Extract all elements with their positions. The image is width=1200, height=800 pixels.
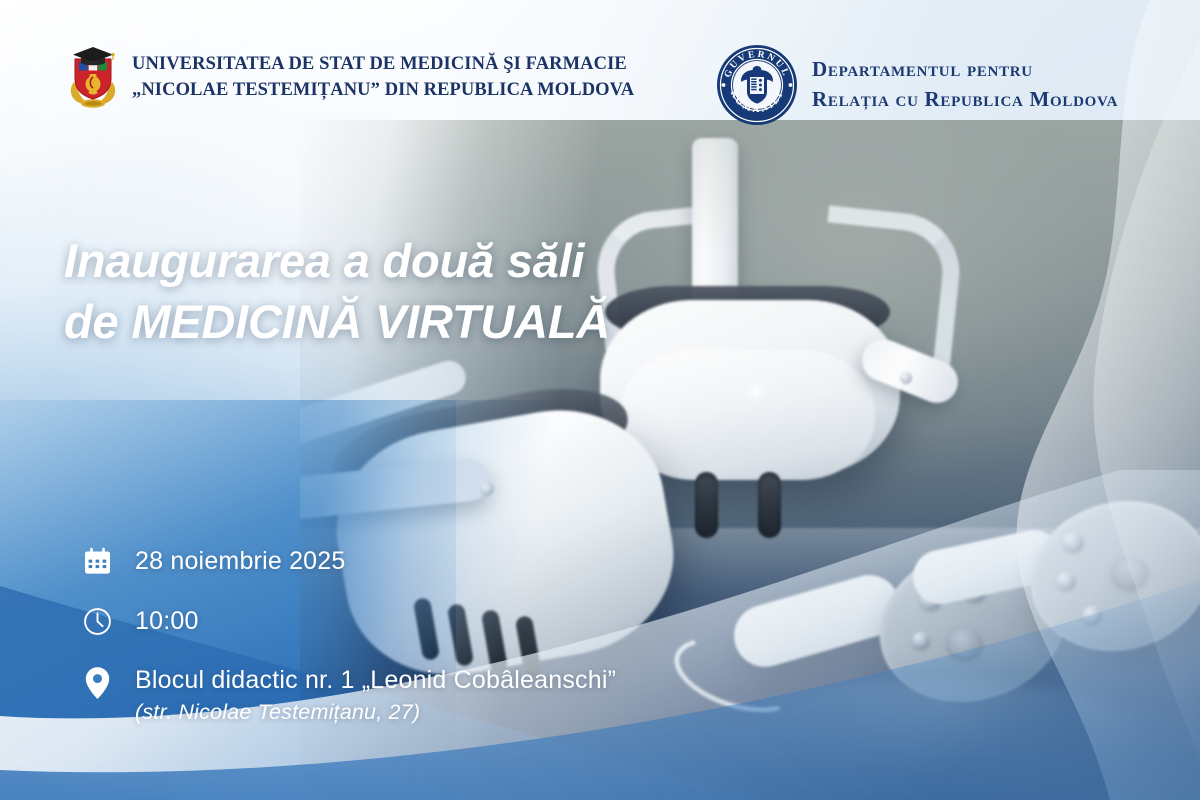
government-department-name: Departamentul pentru Relația cu Republic… [812,55,1118,115]
calendar-icon [80,546,114,576]
university-logo-block: UNIVERSITATEA DE STAT DE MEDICINĂ ŞI FAR… [68,46,634,108]
university-name-line2: „NICOLAE TESTEMIȚANU” DIN REPUBLICA MOLD… [132,77,634,103]
event-time-row: 10:00 [80,606,680,637]
clock-icon [80,606,114,636]
event-poster: UNIVERSITATEA DE STAT DE MEDICINĂ ŞI FAR… [0,0,1200,800]
event-venue-name: Blocul didactic nr. 1 „Leonid Cobâleansc… [135,666,616,694]
event-time: 10:00 [135,606,199,637]
government-name-line2: Relația cu Republica Moldova [812,85,1118,115]
poster-header: UNIVERSITATEA DE STAT DE MEDICINĂ ŞI FAR… [0,0,1200,140]
title-line-1: Inaugurarea a două săli [64,230,724,291]
event-venue: Blocul didactic nr. 1 „Leonid Cobâleansc… [135,665,616,725]
guvernul-romaniei-seal: GUVERNUL ROMÂNIEI [716,44,798,126]
event-date: 28 noiembrie 2025 [135,546,346,577]
title-line-2: de MEDICINĂ VIRTUALĂ [64,291,724,352]
wreath-band [85,101,102,105]
title-line-2-prefix: de [64,295,131,348]
title-line-2-emphasis: MEDICINĂ VIRTUALĂ [131,295,610,348]
event-venue-address: (str. Nicolae Testemițanu, 27) [135,699,616,725]
seal-dot-left [722,83,726,87]
seal-dot-right [789,83,793,87]
event-date-row: 28 noiembrie 2025 [80,546,680,577]
event-venue-row: Blocul didactic nr. 1 „Leonid Cobâleansc… [80,665,680,725]
government-name-line1: Departamentul pentru [812,55,1118,85]
page-title: Inaugurarea a două săli de MEDICINĂ VIRT… [64,230,724,352]
usmf-crest-logo [68,46,118,108]
location-pin-icon [80,665,114,700]
university-name: UNIVERSITATEA DE STAT DE MEDICINĂ ŞI FAR… [132,51,634,104]
university-name-line1: UNIVERSITATEA DE STAT DE MEDICINĂ ŞI FAR… [132,51,634,77]
government-logo-block: GUVERNUL ROMÂNIEI Departamentul pentru R… [716,44,1118,126]
event-details: 28 noiembrie 2025 10:00 Blocul didactic … [80,546,680,725]
